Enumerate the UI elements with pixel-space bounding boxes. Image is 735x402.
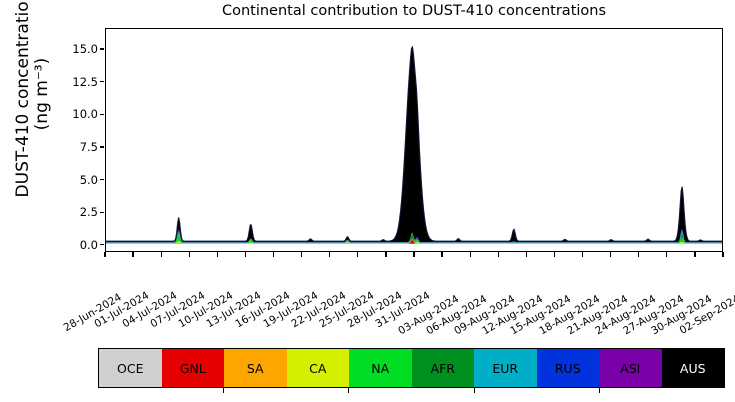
legend-item-na[interactable]: NA [349,349,412,387]
y-tick-label: 5.0 [52,173,98,187]
x-tick-mark [301,252,302,257]
legend-item-label: ASI [620,361,640,376]
y-axis-label: DUST-410 concentration (ng m⁻³) [14,0,52,219]
legend-item-label: NA [371,361,389,376]
y-tick-label: 12.5 [52,75,98,89]
y-tick-mark [100,146,105,147]
x-tick-mark [470,252,471,257]
legend-item-label: GNL [180,361,206,376]
x-tick-mark [161,252,162,257]
legend-item-sa[interactable]: SA [224,349,287,387]
x-tick-mark [610,252,611,257]
y-tick-mark [100,114,105,115]
legend-item-rus[interactable]: RUS [537,349,600,387]
x-tick-mark [638,252,639,257]
x-tick-mark [132,252,133,257]
x-tick-mark [385,252,386,257]
chart-title: Continental contribution to DUST-410 con… [105,3,723,19]
legend-colorbar[interactable]: OCEGNLSACANAAFREURRUSASIAUS [98,348,725,402]
legend-tick-mark [348,388,349,393]
x-tick-mark [498,252,499,257]
legend-item-label: EUR [492,361,518,376]
y-tick-mark [100,179,105,180]
x-tick-mark [245,252,246,257]
legend-tick-mark [223,388,224,393]
x-tick-mark [329,252,330,257]
legend-item-gnl[interactable]: GNL [162,349,225,387]
legend-item-aus[interactable]: AUS [662,349,725,387]
legend-color-strip[interactable]: OCEGNLSACANAAFREURRUSASIAUS [98,348,725,388]
figure-canvas: Continental contribution to DUST-410 con… [0,0,735,402]
x-tick-mark [722,252,723,257]
legend-item-label: AUS [680,361,706,376]
x-tick-mark [217,252,218,257]
y-tick-mark [100,81,105,82]
x-tick-mark [104,252,105,257]
stacked-area-series [106,29,722,251]
plot-area [105,28,723,252]
x-tick-mark [694,252,695,257]
legend-item-label: CA [309,361,326,376]
x-tick-mark [189,252,190,257]
legend-item-label: RUS [555,361,581,376]
legend-item-oce[interactable]: OCE [99,349,162,387]
legend-item-label: SA [247,361,264,376]
y-tick-mark [100,212,105,213]
y-tick-mark [100,244,105,245]
x-tick-mark [413,252,414,257]
legend-item-eur[interactable]: EUR [474,349,537,387]
legend-tick-mark [599,388,600,393]
x-tick-mark [441,252,442,257]
y-axis-label-line2: (ng m⁻³) [33,0,52,219]
legend-item-ca[interactable]: CA [287,349,350,387]
y-tick-label: 0.0 [52,238,98,252]
x-tick-mark [526,252,527,257]
legend-tick-mark [474,388,475,393]
y-tick-mark [100,48,105,49]
x-tick-mark [666,252,667,257]
legend-item-label: OCE [117,361,143,376]
y-tick-label: 2.5 [52,205,98,219]
y-tick-label: 10.0 [52,107,98,121]
x-tick-mark [273,252,274,257]
y-tick-label: 7.5 [52,140,98,154]
y-axis-label-line1: DUST-410 concentration [14,0,33,219]
legend-item-afr[interactable]: AFR [412,349,475,387]
x-tick-mark [582,252,583,257]
x-tick-mark [554,252,555,257]
y-tick-label: 15.0 [52,42,98,56]
legend-item-asi[interactable]: ASI [599,349,662,387]
y-axis-tick-labels: 0.02.55.07.510.012.515.0 [51,0,98,402]
legend-item-label: AFR [431,361,455,376]
x-tick-mark [357,252,358,257]
area-series-aus [106,47,722,242]
